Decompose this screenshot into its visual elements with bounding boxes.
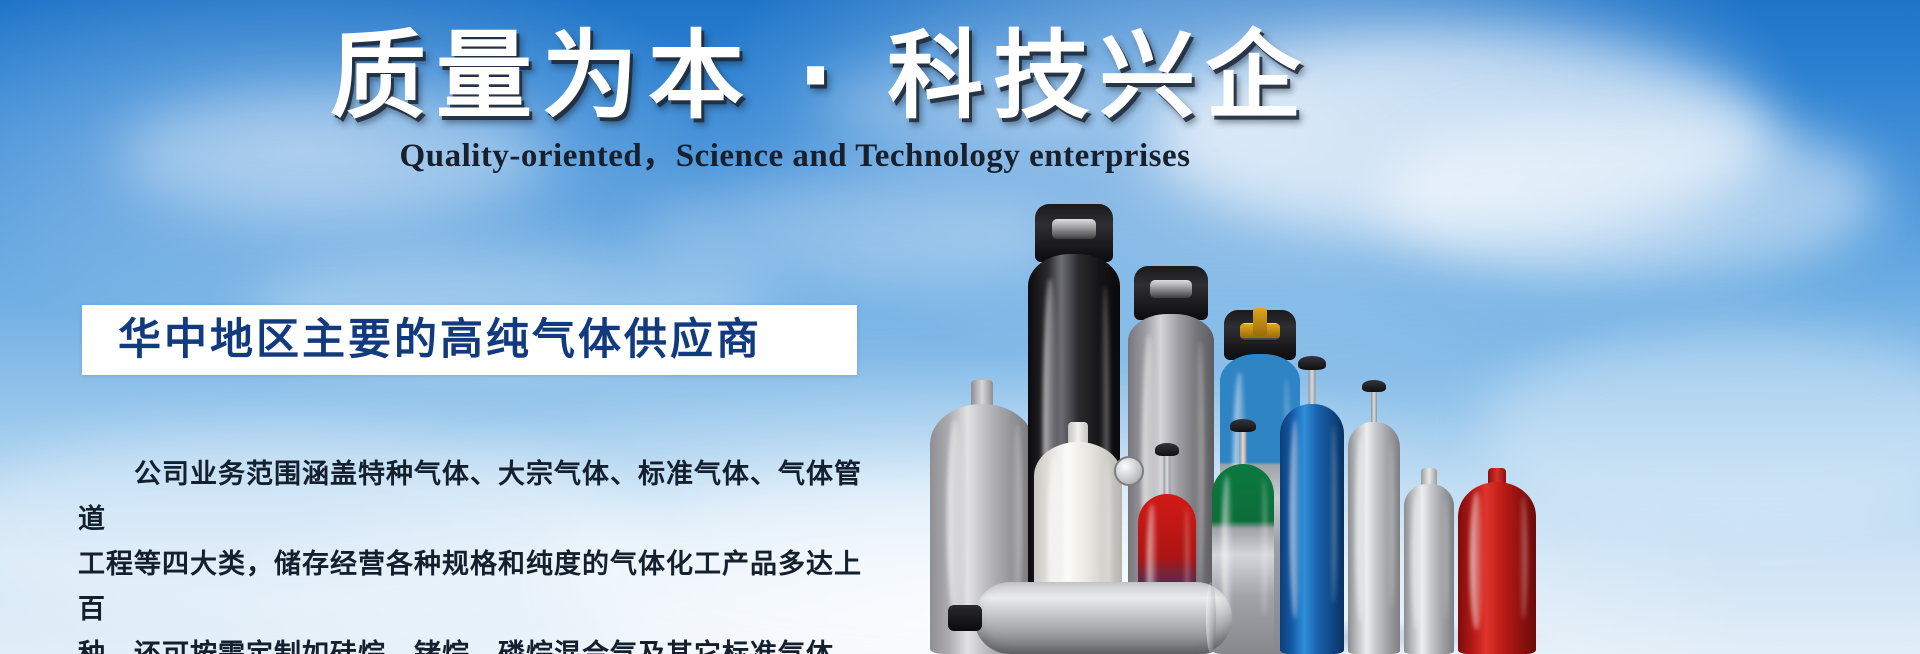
highlight-box-text: 华中地区主要的高纯气体供应商 — [82, 314, 762, 366]
banner-paragraph: 公司业务范围涵盖特种气体、大宗气体、标准气体、气体管道 工程等四大类，储存经营各… — [78, 452, 868, 654]
banner-headline: 质量为本 · 科技兴企 — [330, 24, 1260, 128]
pressure-gauge-icon — [1114, 456, 1144, 486]
lying-cylinder — [974, 582, 1232, 654]
paragraph-line: 工程等四大类，储存经营各种规格和纯度的气体化工产品多达上百 — [78, 542, 868, 632]
promo-banner: 质量为本 · 科技兴企 Quality-oriented，Science and… — [0, 0, 1920, 654]
aluminium-cylinder-1 — [1348, 422, 1400, 654]
paragraph-line: 公司业务范围涵盖特种气体、大宗气体、标准气体、气体管道 — [78, 452, 868, 542]
highlight-box: 华中地区主要的高纯气体供应商 — [82, 305, 857, 375]
paragraph-line: 种，还可按需定制如硅烷、锗烷、磷烷混合气及其它标准气体。 — [78, 632, 868, 654]
blue-tall-cylinder: 气 — [1280, 404, 1344, 654]
aluminium-cylinder-2 — [1404, 484, 1454, 654]
red-cylinder-large — [1458, 482, 1536, 654]
gas-cylinder-group: 气 — [930, 150, 1570, 654]
lying-cylinder-cap — [948, 605, 982, 631]
